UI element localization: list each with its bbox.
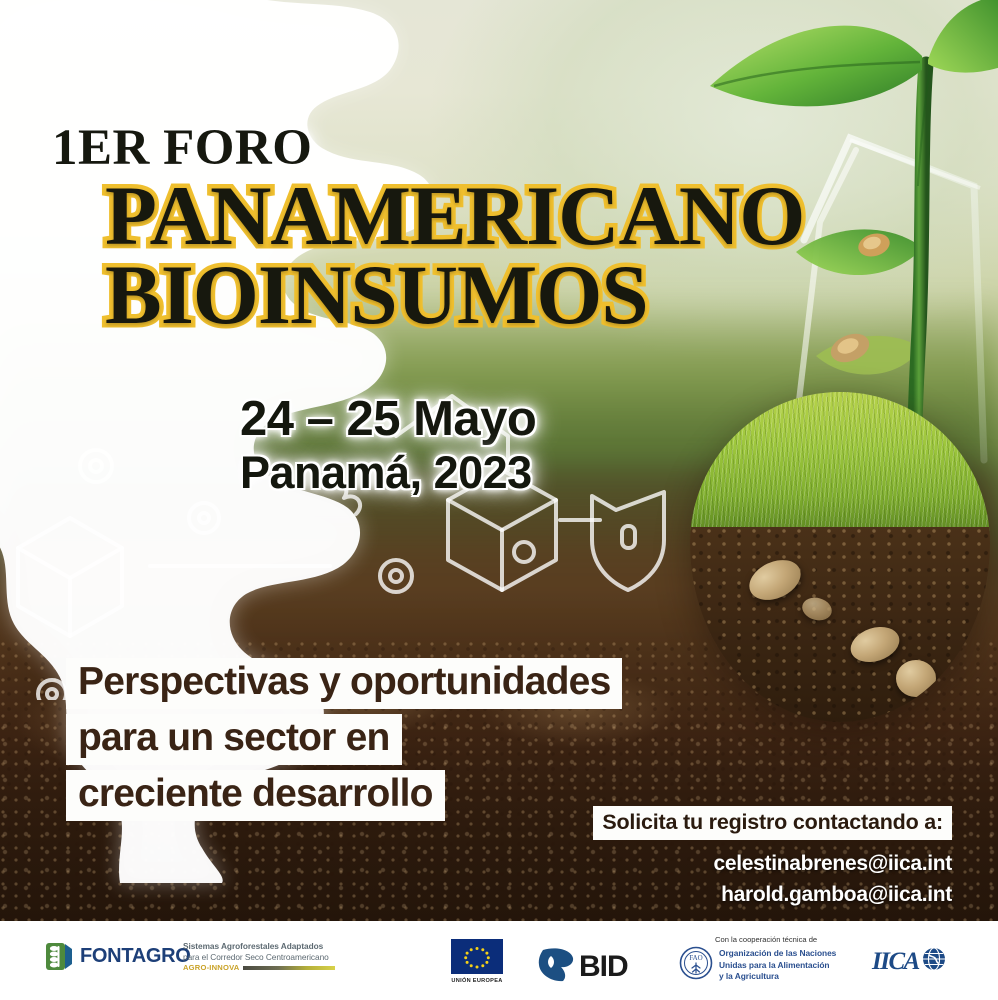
fao-line-1: Organización de las Naciones (719, 948, 836, 958)
soil-cross-section-globe (690, 392, 990, 722)
logo-fao: Con la cooperación técnica de FAO Organi… (679, 935, 836, 985)
globe-grass-layer (690, 392, 990, 531)
sponsor-logo-bar: FONTAGRO Sistemas Agroforestales Adaptad… (0, 921, 998, 1000)
fao-line-2: Unidas para la Alimentación (719, 960, 830, 970)
contact-email[interactable]: celestinabrenes@iica.int (593, 852, 952, 876)
contact-email[interactable]: harold.gamboa@iica.int (593, 883, 952, 907)
fao-wheat-seal-icon: FAO (679, 946, 713, 985)
event-date-block: 24 – 25 Mayo Panamá, 2023 (240, 394, 536, 497)
agro-innova-rule (243, 966, 335, 970)
fontagro-leaf-icon (46, 943, 73, 970)
event-date: 24 – 25 Mayo (240, 394, 536, 445)
tagline-line: creciente desarrollo (66, 770, 445, 821)
logo-agro-innova: Sistemas Agroforestales Adaptados para e… (183, 941, 335, 972)
contact-heading: Solicita tu registro contactando a: (593, 806, 952, 840)
fao-preamble: Con la cooperación técnica de (715, 935, 836, 944)
agro-innova-line-2: para el Corredor Seco Centroamericano (183, 952, 335, 963)
contact-block: Solicita tu registro contactando a: cele… (593, 806, 952, 907)
iica-wordmark: IICA (872, 948, 919, 976)
agro-innova-line-3: AGRO-INNOVA (183, 963, 239, 972)
page-title-line-2: BIOINSUMOS (105, 255, 648, 337)
tagline-line: para un sector en (66, 714, 402, 765)
fao-name: Organización de las Naciones Unidas para… (719, 948, 836, 983)
globe-soil-layer (690, 527, 990, 722)
tagline-line: Perspectivas y oportunidades (66, 658, 622, 709)
iica-globe-icon (922, 947, 946, 976)
eu-caption: UNIÓN EUROPEA (451, 978, 503, 984)
bid-swoosh-icon (537, 946, 575, 987)
agro-innova-line-1: Sistemas Agroforestales Adaptados (183, 941, 335, 952)
logo-fontagro: FONTAGRO (46, 943, 191, 970)
fontagro-wordmark: FONTAGRO (80, 945, 191, 968)
event-poster: 1ER FORO PANAMERICANO BIOINSUMOS 24 – 25… (0, 0, 998, 1000)
tagline-block: Perspectivas y oportunidades para un sec… (66, 658, 622, 826)
logo-union-europea: UNIÓN EUROPEA (451, 939, 503, 984)
logo-iica: IICA (872, 947, 946, 976)
event-location: Panamá, 2023 (240, 450, 536, 497)
bid-wordmark: BID (579, 950, 628, 984)
page-title-line-1: PANAMERICANO (105, 176, 804, 258)
fao-line-3: y la Agricultura (719, 971, 779, 981)
svg-text:FAO: FAO (689, 954, 702, 962)
eu-flag-icon (451, 939, 503, 974)
seed-tuber (896, 660, 936, 697)
logo-bid: BID (537, 946, 628, 987)
